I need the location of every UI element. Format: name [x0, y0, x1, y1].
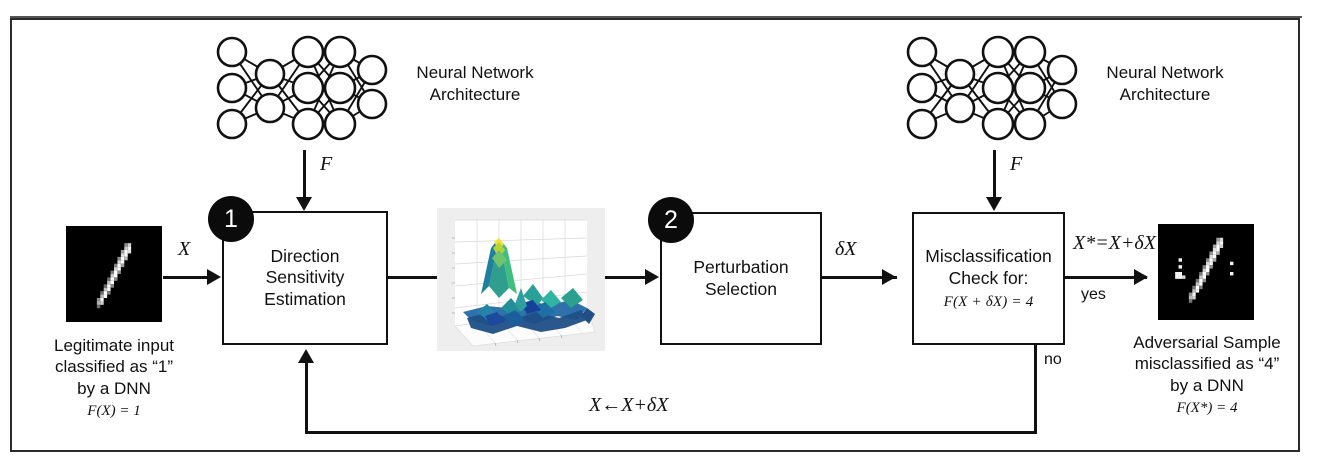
legit-caption-formula: F(X) = 1 — [14, 402, 214, 421]
nn-right-arrow-label: F — [1010, 153, 1022, 176]
box1-to-surface-line — [388, 276, 440, 279]
nn-right-label-line1: Neural Network — [1090, 62, 1240, 84]
input-x-arrow-line — [163, 276, 209, 279]
neural-network-left-label: Neural Network Architecture — [400, 62, 550, 106]
nn-right-label-line2: Architecture — [1090, 84, 1240, 106]
legit-caption-line1: Legitimate input — [14, 335, 214, 356]
mnist-digit-adversarial — [1158, 224, 1254, 320]
misclassification-check-box[interactable]: Misclassification Check for: F(X + δX) =… — [912, 212, 1065, 345]
box2-line2: Selection — [705, 279, 777, 300]
legit-caption-line3: by a DNN — [14, 378, 214, 399]
no-label: no — [1044, 351, 1062, 369]
nn-left-label-line1: Neural Network — [400, 62, 550, 84]
yes-arrow-head — [1134, 269, 1148, 285]
step-badge-1: 1 — [208, 196, 254, 242]
saliency-surface-3d — [437, 208, 605, 351]
adversarial-sample-image — [1158, 224, 1254, 320]
delta-x-arrow-head — [882, 269, 896, 285]
adv-caption-line1: Adversarial Sample — [1100, 332, 1314, 353]
nn-left-arrow-label: F — [320, 153, 332, 176]
nn-right-arrow-line — [993, 150, 996, 200]
neural-network-right — [900, 32, 1080, 144]
legitimate-input-image — [66, 226, 162, 322]
neural-network-left — [210, 32, 390, 144]
result-x-label: X*=X+δX — [1073, 232, 1156, 255]
surface-to-box2-arrow-head — [645, 269, 659, 285]
box3-line1: Misclassification — [925, 246, 1051, 267]
feedback-up-line — [305, 363, 308, 433]
box1-line2: Sensitivity — [266, 267, 345, 288]
nn-left-arrow-line — [303, 150, 306, 200]
box3-formula: F(X + δX) = 4 — [944, 294, 1034, 311]
saliency-surface-panel — [437, 208, 605, 351]
nn-left-arrow-head — [296, 197, 312, 211]
nn-left-label-line2: Architecture — [400, 84, 550, 106]
feedback-down-line — [1034, 345, 1037, 433]
surface-to-box2-line — [605, 276, 647, 279]
box1-line1: Direction — [270, 246, 339, 267]
delta-x-label: δX — [835, 238, 857, 261]
mnist-digit-one — [66, 226, 162, 322]
neural-network-graphic — [900, 32, 1080, 144]
input-x-arrow-head — [207, 269, 221, 285]
feedback-arrow-head — [298, 349, 314, 363]
nn-right-arrow-head — [986, 197, 1002, 211]
legit-caption-line2: classified as “1” — [14, 356, 214, 377]
adv-caption-line2: misclassified as “4” — [1100, 353, 1314, 374]
feedback-bottom-line — [305, 431, 1037, 434]
feedback-label: X←X+δX — [589, 394, 668, 417]
adv-caption-line3: by a DNN — [1100, 375, 1314, 396]
box1-line3: Estimation — [264, 289, 346, 310]
adversarial-sample-caption: Adversarial Sample misclassified as “4” … — [1100, 332, 1314, 418]
box3-line2: Check for: — [949, 268, 1029, 289]
neural-network-right-label: Neural Network Architecture — [1090, 62, 1240, 106]
figure-canvas: Neural Network Architecture F — [0, 0, 1317, 471]
legitimate-input-caption: Legitimate input classified as “1” by a … — [14, 335, 214, 421]
box2-line1: Perturbation — [693, 257, 788, 278]
yes-label: yes — [1081, 286, 1106, 304]
input-x-label: X — [178, 238, 190, 261]
step-badge-2: 2 — [648, 197, 694, 243]
adv-caption-formula: F(X*) = 4 — [1100, 399, 1314, 418]
neural-network-graphic — [210, 32, 390, 144]
